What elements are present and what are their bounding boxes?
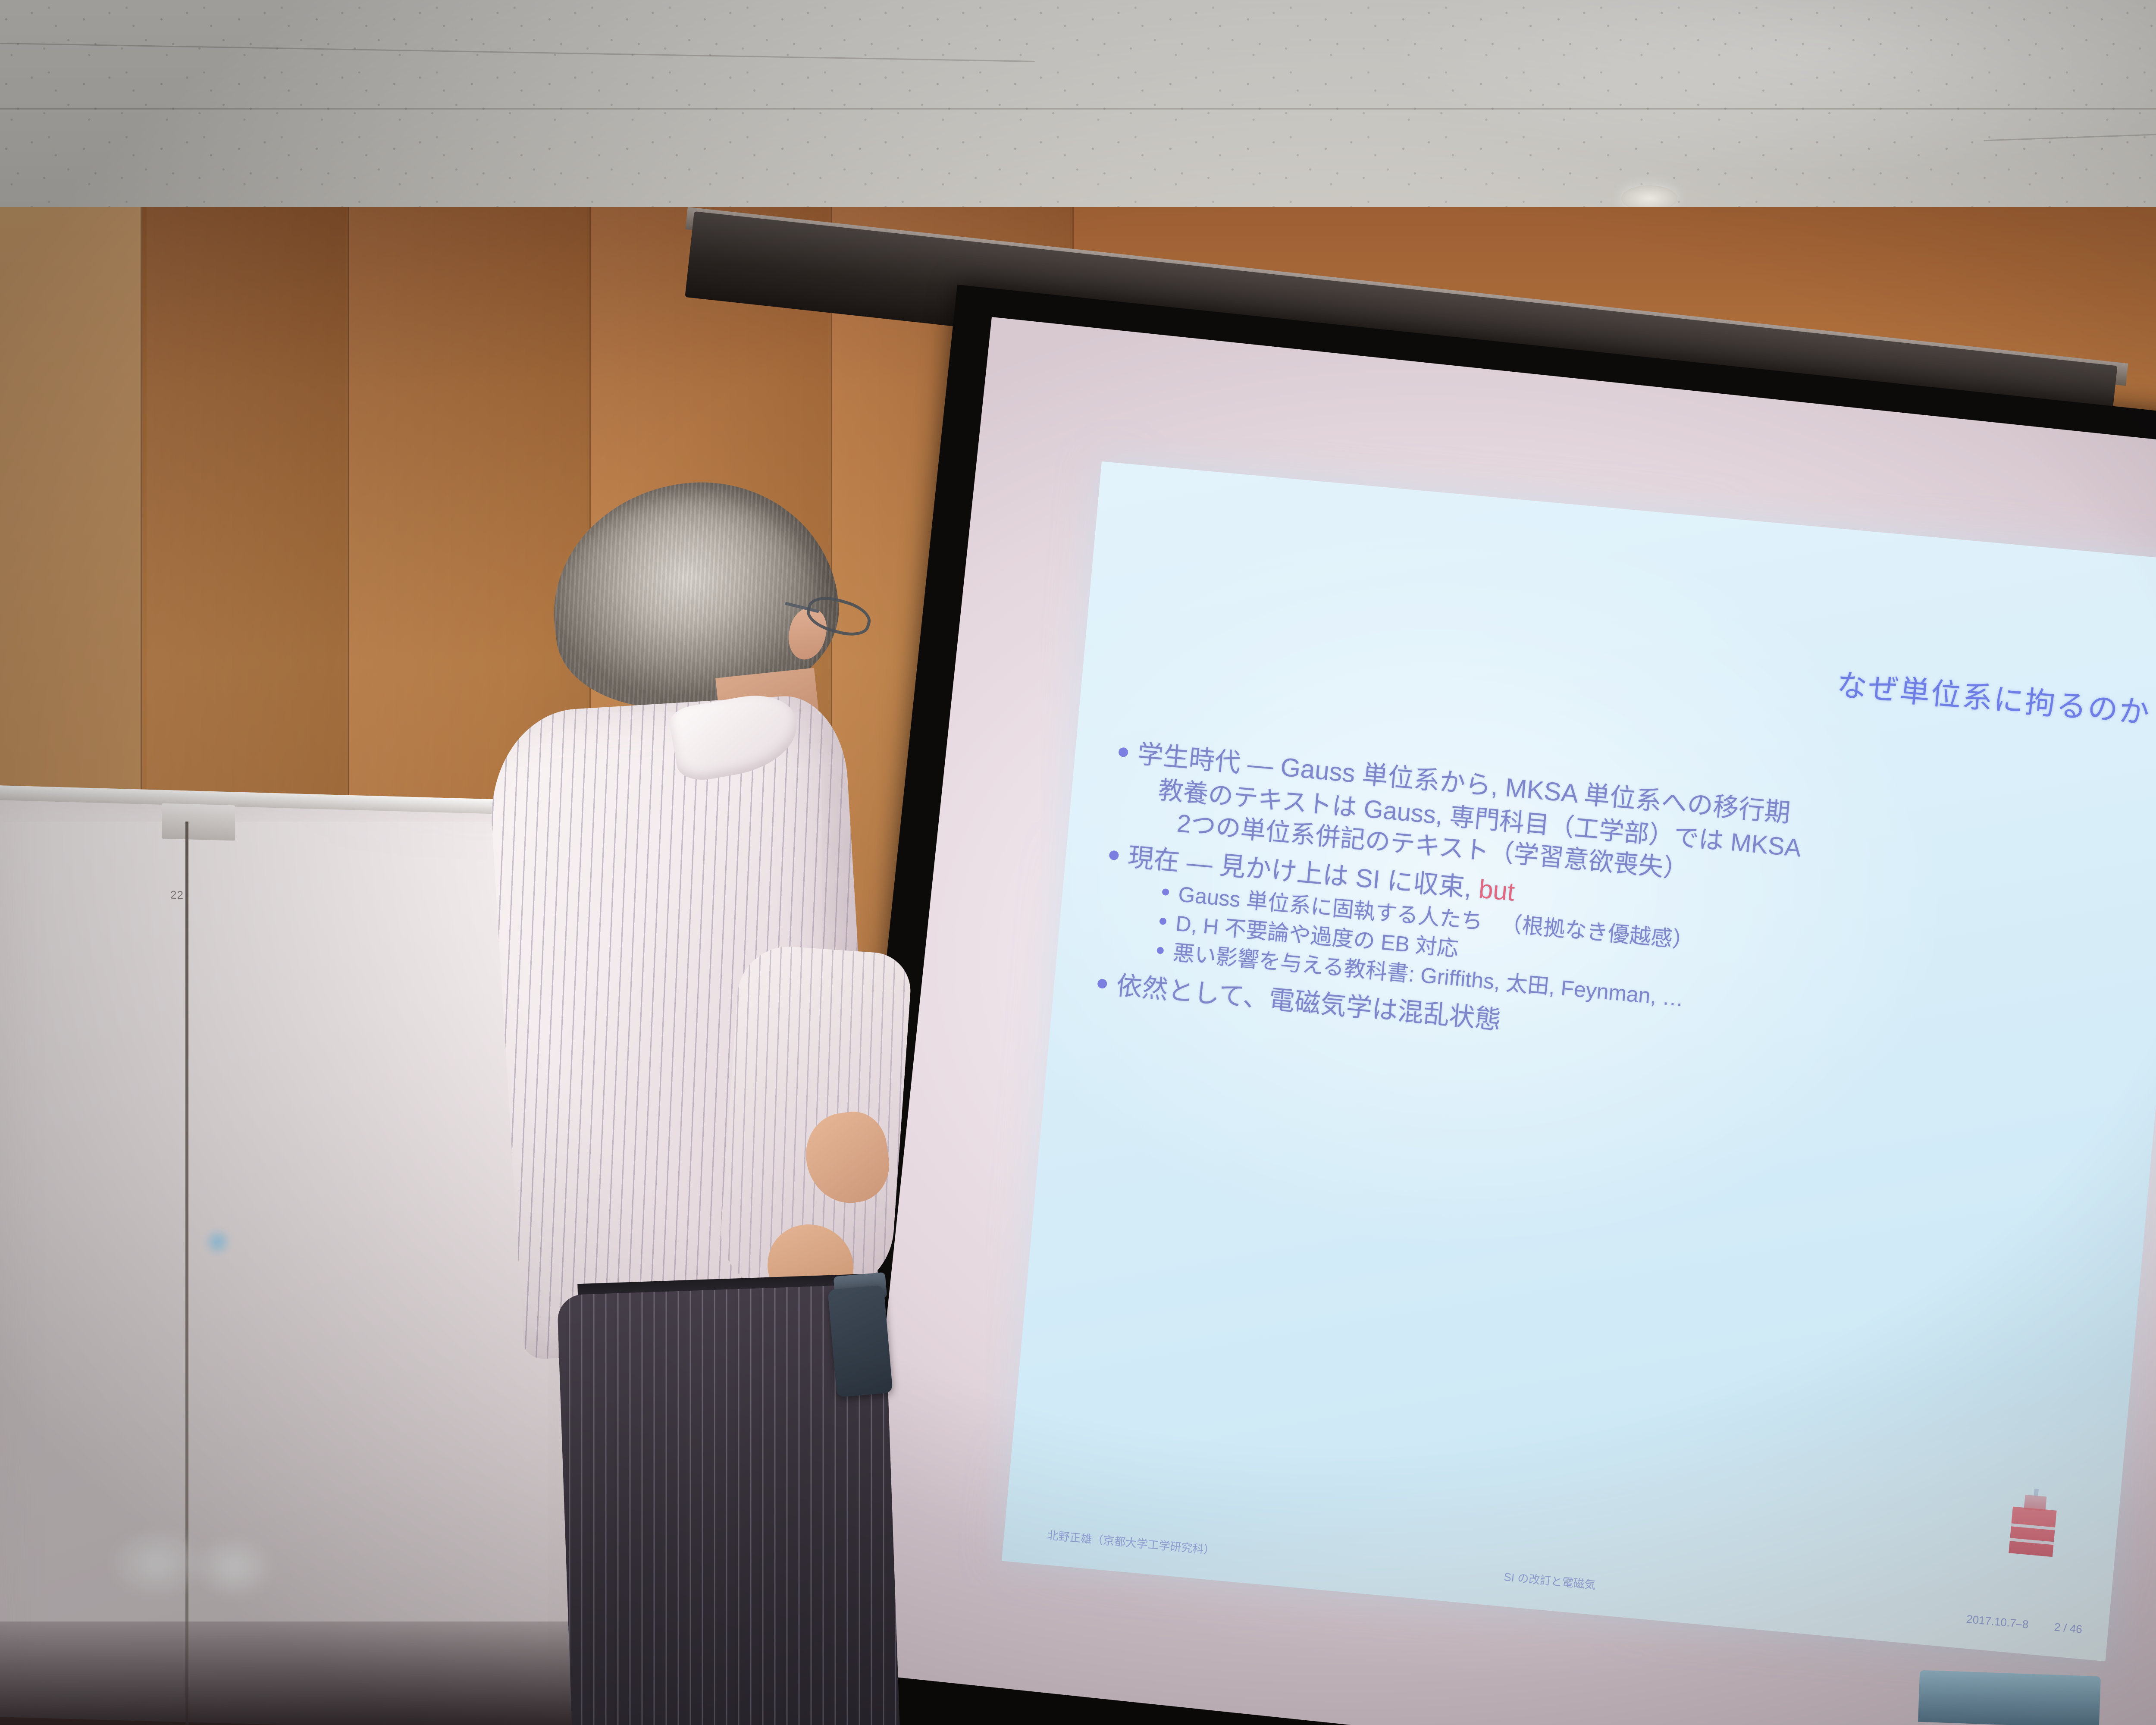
bullet-dot-icon xyxy=(1118,747,1128,757)
bullet-accent-word: but xyxy=(1478,874,1516,906)
whiteboard-glare xyxy=(190,1535,276,1600)
bullet-dot-icon xyxy=(1156,947,1164,954)
belt-phone-case xyxy=(827,1285,893,1397)
whiteboard-label: 22 xyxy=(170,888,184,902)
logo-tower-body xyxy=(2009,1506,2056,1557)
kyoto-university-clock-tower-logo xyxy=(2007,1488,2060,1557)
foreground-device xyxy=(1918,1670,2101,1725)
whiteboard-blue-reflection xyxy=(205,1227,231,1257)
whiteboard-bracket xyxy=(162,803,235,841)
bullet-dot-icon xyxy=(1162,888,1169,896)
ceiling xyxy=(0,0,2156,241)
wall-left-panel xyxy=(0,207,142,802)
footer-author: 北野正雄（京都大学工学研究科） xyxy=(1047,1527,1216,1558)
footer-date: 2017.10.7–8 xyxy=(1966,1612,2029,1631)
lecture-room-photo: 22 なぜ単位系に拘るのか 学生時代 — Gauss 単位系から, MKSA 単… xyxy=(0,0,2156,1725)
bullet-dot-icon xyxy=(1097,979,1107,989)
ceiling-tile-seam xyxy=(0,108,2156,110)
bullet-dot-icon xyxy=(1159,918,1166,925)
projected-slide: なぜ単位系に拘るのか 学生時代 — Gauss 単位系から, MKSA 単位系へ… xyxy=(1002,461,2156,1661)
slide-title: なぜ単位系に拘るのか xyxy=(1835,661,2153,733)
footer-page-number: 2 / 46 xyxy=(2054,1620,2083,1636)
bullet-dot-icon xyxy=(1109,850,1119,860)
slide-body: 学生時代 — Gauss 単位系から, MKSA 単位系への移行期 教養のテキス… xyxy=(1096,736,2155,1096)
presenter xyxy=(487,457,1005,1725)
